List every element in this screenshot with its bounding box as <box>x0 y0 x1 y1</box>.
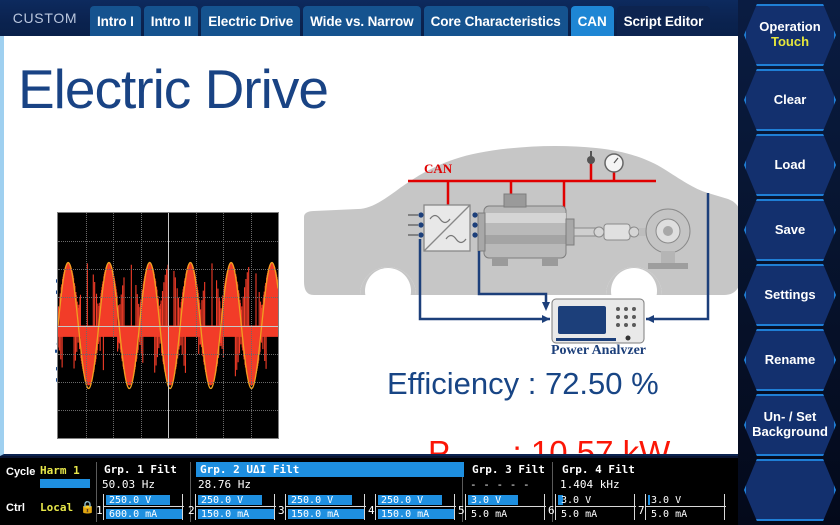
ploss-unit: kW <box>623 434 671 456</box>
ploss-sublabel: LOSS <box>450 455 503 456</box>
channel-voltage-value-4[interactable]: 250.0 V <box>381 495 423 506</box>
channel-voltage-value-5[interactable]: 3.0 V <box>471 495 501 506</box>
scope-gridline-h <box>58 354 278 355</box>
group-frequency-4: 1.404 kHz <box>560 478 620 491</box>
sidebar-button-label: Operation <box>759 20 820 35</box>
channel-axis-2 <box>196 506 276 507</box>
channel-current-value-6[interactable]: 5.0 mA <box>561 509 597 520</box>
sidebar-button-sublabel: Touch <box>771 35 809 50</box>
tab-script-editor[interactable]: Script Editor <box>617 6 711 36</box>
scope-gridline-h <box>58 241 278 242</box>
tab-electric-drive[interactable]: Electric Drive <box>201 6 300 36</box>
channel-current-value-3[interactable]: 150.0 mA <box>291 509 339 520</box>
sidebar-button-save[interactable]: Save <box>744 199 836 261</box>
channel-current-value-1[interactable]: 600.0 mA <box>109 509 157 520</box>
ploss-value: 10.57 <box>531 434 614 456</box>
sidebar-button-label: Clear <box>774 93 807 108</box>
tab-can[interactable]: CAN <box>571 6 614 36</box>
channel-current-value-7[interactable]: 5.0 mA <box>651 509 687 520</box>
channel-number-7: 7 <box>638 504 645 517</box>
group-frequency-2: 28.76 Hz <box>198 478 251 491</box>
sidebar-button-label: Un- / SetBackground <box>752 410 828 440</box>
channel-voltage-bar-7 <box>648 495 650 505</box>
scope-display[interactable] <box>57 212 279 439</box>
status-bar: Cycle Harm 1 Ctrl Local 🔒 Grp. 1 Filt50.… <box>0 458 738 525</box>
ctrl-label: Ctrl <box>6 502 25 514</box>
channel-number-1: 1 <box>96 504 103 517</box>
efficiency-label: Efficiency : <box>387 366 536 401</box>
sidebar-button-load[interactable]: Load <box>744 134 836 196</box>
main-content-panel: Electric Drive Voltage V VFD Output <box>0 36 738 456</box>
channel-number-3: 3 <box>278 504 285 517</box>
channel-voltage-value-7[interactable]: 3.0 V <box>651 495 681 506</box>
channel-current-value-5[interactable]: 5.0 mA <box>471 509 507 520</box>
scope-widget: Voltage V <box>57 212 279 439</box>
sidebar-button-rename[interactable]: Rename <box>744 329 836 391</box>
inverter-symbol <box>424 205 470 251</box>
power-analyzer-label: Power Analyzer <box>551 343 646 354</box>
tab-core-characteristics[interactable]: Core Characteristics <box>424 6 568 36</box>
sidebar-button-label: Rename <box>765 353 816 368</box>
channel-axis-1 <box>104 506 184 507</box>
vehicle-diagram: CAN <box>296 139 738 359</box>
sidebar-button-operation[interactable]: OperationTouch <box>744 4 836 66</box>
power-analyzer-symbol <box>552 299 644 343</box>
channel-voltage-value-1[interactable]: 250.0 V <box>109 495 151 506</box>
app-root: CUSTOM Intro IIntro IIElectric DriveWide… <box>0 0 840 525</box>
channel-axis-7 <box>646 506 726 507</box>
channel-number-5: 5 <box>458 504 465 517</box>
group-header-1[interactable]: Grp. 1 Filt <box>100 462 188 477</box>
sidebar-button-clear[interactable]: Clear <box>744 69 836 131</box>
right-sidebar: OperationTouchClearLoadSaveSettingsRenam… <box>738 0 840 525</box>
can-bus-label: CAN <box>424 161 453 176</box>
status-cycle-column: Cycle Harm 1 Ctrl Local 🔒 <box>4 458 94 525</box>
efficiency-readout: Efficiency : 72.50 % <box>387 366 659 402</box>
group-header-3[interactable]: Grp. 3 Filt <box>468 462 554 477</box>
channel-axis-5 <box>466 506 546 507</box>
channel-voltage-value-6[interactable]: 3.0 V <box>561 495 591 506</box>
channel-number-6: 6 <box>548 504 555 517</box>
group-header-2[interactable]: Grp. 2 UΔI Filt <box>196 462 464 477</box>
scope-caption: VFD Output <box>69 451 269 456</box>
scope-gridline-h <box>58 269 278 270</box>
channel-number-2: 2 <box>188 504 195 517</box>
channel-axis-6 <box>556 506 636 507</box>
tab-intro-ii[interactable]: Intro II <box>144 6 198 36</box>
ploss-separator: : <box>503 434 531 456</box>
cycle-bar <box>40 479 90 488</box>
sidebar-button-settings[interactable]: Settings <box>744 264 836 326</box>
sidebar-button-un-set-background[interactable]: Un- / SetBackground <box>744 394 836 456</box>
custom-label: CUSTOM <box>0 0 90 36</box>
tab-intro-i[interactable]: Intro I <box>90 6 141 36</box>
efficiency-unit: % <box>631 366 659 401</box>
scope-gridline-h <box>58 297 278 298</box>
channel-current-value-4[interactable]: 150.0 mA <box>381 509 429 520</box>
lock-icon[interactable]: 🔒 <box>80 500 95 514</box>
ploss-readout: PLOSS : 10.57 kW <box>428 434 670 456</box>
efficiency-value: 72.50 <box>545 366 623 401</box>
ploss-label: P <box>428 434 450 456</box>
channel-axis-4 <box>376 506 456 507</box>
group-header-4[interactable]: Grp. 4 Filt <box>558 462 668 477</box>
tab-wide-vs-narrow[interactable]: Wide vs. Narrow <box>303 6 420 36</box>
channel-number-4: 4 <box>368 504 375 517</box>
channel-voltage-value-3[interactable]: 250.0 V <box>291 495 333 506</box>
group-frequency-3: - - - - - <box>470 478 530 491</box>
inverter-output-terminals <box>472 212 477 237</box>
scope-gridline-h <box>58 382 278 383</box>
channel-voltage-value-2[interactable]: 250.0 V <box>201 495 243 506</box>
sidebar-button-label: Load <box>774 158 805 173</box>
channel-current-value-2[interactable]: 150.0 mA <box>201 509 249 520</box>
ctrl-value[interactable]: Local <box>40 501 73 514</box>
sidebar-button-label: Save <box>775 223 805 238</box>
scope-gridline-h <box>58 410 278 411</box>
scope-gridline-h <box>58 326 278 327</box>
group-frequency-1: 50.03 Hz <box>102 478 155 491</box>
sidebar-button-empty-7[interactable] <box>744 459 836 521</box>
tab-bar: CUSTOM Intro IIntro IIElectric DriveWide… <box>0 0 738 36</box>
channel-axis-3 <box>286 506 366 507</box>
sidebar-button-label: Settings <box>764 288 815 303</box>
cycle-label: Cycle <box>6 466 35 478</box>
page-title: Electric Drive <box>18 62 328 117</box>
cycle-value[interactable]: Harm 1 <box>40 464 80 477</box>
